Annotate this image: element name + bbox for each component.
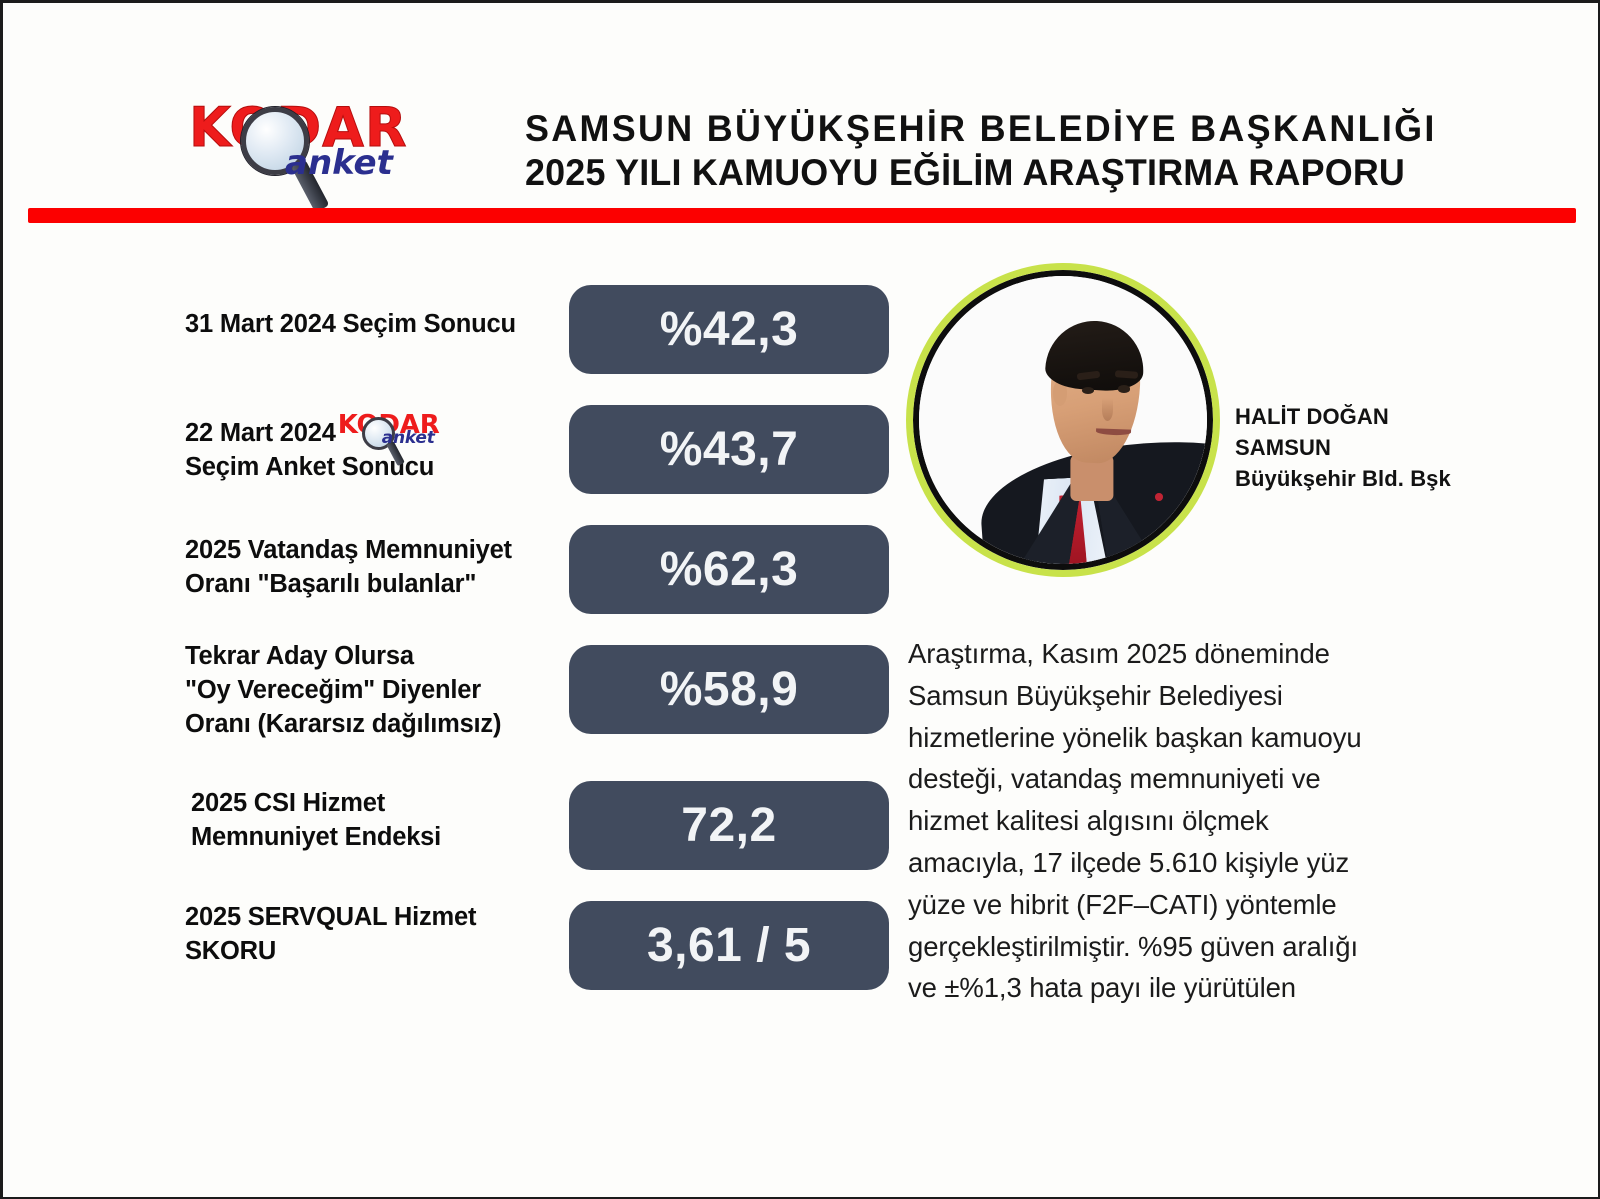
metric-label-2: 2025 Vatandaş Memnuniyet Oranı "Başarılı…	[185, 534, 570, 602]
avatar-hair	[1044, 318, 1145, 392]
kodar-anket-logo: KODAR anket	[189, 101, 439, 193]
metric-label-4-line2: Memnuniyet Endeksi	[191, 823, 441, 851]
summary-line-2: Samsun Büyükşehir Belediyesi	[908, 675, 1478, 717]
summary-paragraph: Araştırma, Kasım 2025 döneminde Samsun B…	[908, 633, 1478, 1009]
metric-label-3-line1: Tekrar Aday Olursa	[185, 642, 414, 670]
metric-label-3-line2: "Oy Vereceğim" Diyenler	[185, 676, 481, 704]
person-name: HALİT DOĞAN	[1235, 401, 1451, 432]
summary-line-7: yüze ve hibrit (F2F–CATI) yöntemle	[908, 884, 1478, 926]
metric-label-5-line2: SKORU	[185, 937, 276, 965]
metric-label-4: 2025 CSI Hizmet Memnuniyet Endeksi	[191, 787, 571, 855]
person-title: Büyükşehir Bld. Bşk	[1235, 463, 1451, 494]
summary-line-5: hizmet kalitesi algısını ölçmek	[908, 800, 1478, 842]
summary-line-9: ve ±%1,3 hata payı ile yürütülen	[908, 967, 1478, 1009]
metric-label-5: 2025 SERVQUAL Hizmet SKORU	[185, 901, 565, 969]
metric-label-3: Tekrar Aday Olursa "Oy Vereceğim" Diyenl…	[185, 640, 570, 742]
metric-label-1-line1: 22 Mart 2024	[185, 419, 336, 447]
avatar-ring	[906, 263, 1220, 577]
avatar-lapel-pin	[1155, 493, 1162, 500]
header-divider	[28, 208, 1576, 223]
metric-label-1: 22 Mart 2024KODARanket Seçim Anket Sonuc…	[185, 415, 565, 485]
summary-line-3: hizmetlerine yönelik başkan kamuoyu	[908, 717, 1478, 759]
page-title: SAMSUN BÜYÜKŞEHİR BELEDİYE BAŞKANLIĞI 20…	[525, 107, 1475, 194]
title-line-1: SAMSUN BÜYÜKŞEHİR BELEDİYE BAŞKANLIĞI	[525, 107, 1447, 151]
title-line-2: 2025 YILI KAMUOYU EĞİLİM ARAŞTIRMA RAPOR…	[525, 151, 1447, 195]
summary-line-1: Araştırma, Kasım 2025 döneminde	[908, 633, 1478, 675]
avatar-eye-right	[1118, 385, 1131, 392]
metric-value-2: %62,3	[569, 525, 889, 614]
metric-value-5: 3,61 / 5	[569, 901, 889, 990]
metric-label-5-line1: 2025 SERVQUAL Hizmet	[185, 903, 476, 931]
summary-line-4: desteği, vatandaş memnuniyeti ve	[908, 758, 1478, 800]
person-info: HALİT DOĞAN SAMSUN Büyükşehir Bld. Bşk	[1235, 401, 1451, 495]
metric-label-2-line2: Oranı "Başarılı bulanlar"	[185, 570, 476, 598]
metric-value-3: %58,9	[569, 645, 889, 734]
metric-value-1: %43,7	[569, 405, 889, 494]
avatar-photo	[919, 276, 1207, 564]
metric-value-4: 72,2	[569, 781, 889, 870]
summary-line-6: amacıyla, 17 ilçede 5.610 kişiyle yüz	[908, 842, 1478, 884]
metric-label-2-line1: 2025 Vatandaş Memnuniyet	[185, 536, 512, 564]
metric-label-3-line3: Oranı (Kararsız dağılımsız)	[185, 710, 501, 738]
metric-label-4-line1: 2025 CSI Hizmet	[191, 789, 385, 817]
report-page: KODAR anket SAMSUN BÜYÜKŞEHİR BELEDİYE B…	[0, 0, 1600, 1199]
logo-wordmark-anket: anket	[285, 146, 393, 180]
kodar-anket-logo-inline: KODARanket	[338, 415, 456, 449]
report-header: KODAR anket SAMSUN BÜYÜKŞEHİR BELEDİYE B…	[3, 3, 1598, 203]
metric-value-0: %42,3	[569, 285, 889, 374]
avatar	[906, 263, 1220, 577]
metric-label-0-line1: 31 Mart 2024 Seçim Sonucu	[185, 310, 516, 338]
inline-logo-wordmark-anket: anket	[382, 430, 435, 447]
metric-label-0: 31 Mart 2024 Seçim Sonucu	[185, 308, 565, 342]
summary-line-8: gerçekleştirilmiştir. %95 güven aralığı	[908, 926, 1478, 968]
person-city: SAMSUN	[1235, 432, 1451, 463]
